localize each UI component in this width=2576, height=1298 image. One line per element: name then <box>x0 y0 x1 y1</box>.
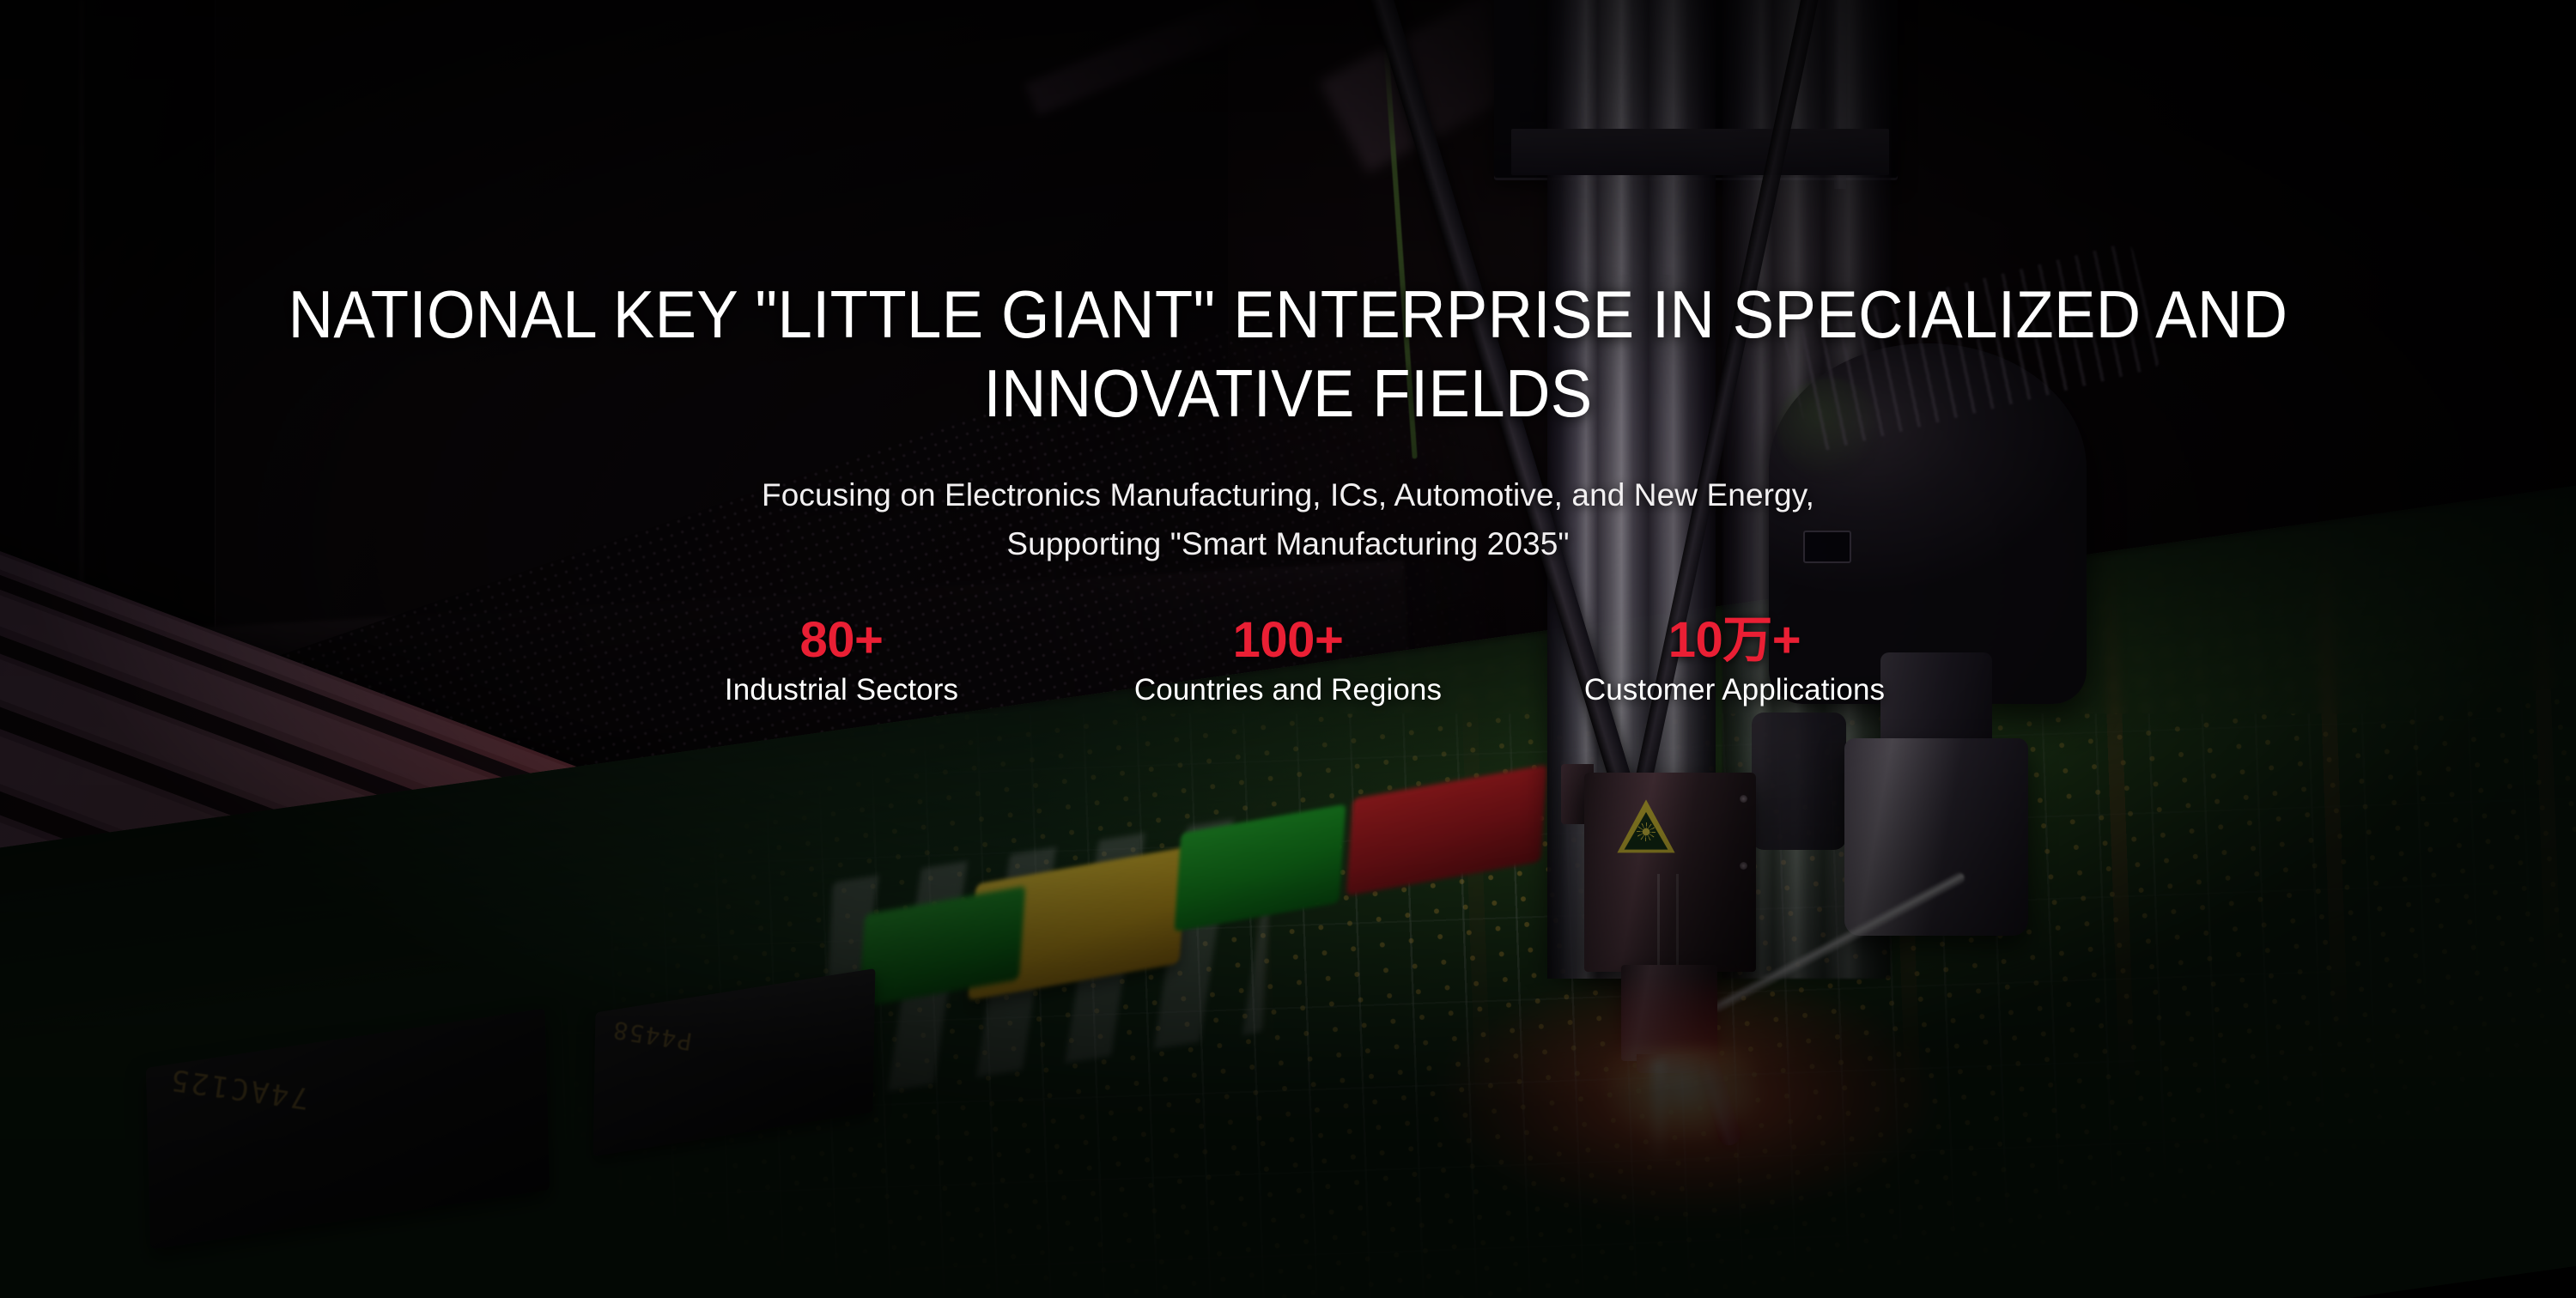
hero-stats: 80+ Industrial Sectors 100+ Countries an… <box>618 614 1958 707</box>
stat-value: 100+ <box>1065 614 1511 666</box>
hero-subtitle-line-1: Focusing on Electronics Manufacturing, I… <box>762 470 1814 519</box>
stat-label: Countries and Regions <box>1065 673 1511 707</box>
hero-content: NATIONAL KEY "LITTLE GIANT" ENTERPRISE I… <box>0 0 2576 1298</box>
hero-banner: 74AC125 P4458 <box>0 0 2576 1298</box>
stat-customer-applications: 10万+ Customer Applications <box>1511 614 1958 707</box>
stat-value: 10万+ <box>1511 614 1958 666</box>
hero-subtitle: Focusing on Electronics Manufacturing, I… <box>762 470 1814 569</box>
stat-label: Industrial Sectors <box>618 673 1065 707</box>
stat-label: Customer Applications <box>1511 673 1958 707</box>
stat-value: 80+ <box>618 614 1065 666</box>
hero-subtitle-line-2: Supporting "Smart Manufacturing 2035" <box>762 519 1814 568</box>
stat-countries-and-regions: 100+ Countries and Regions <box>1065 614 1511 707</box>
page-title: NATIONAL KEY "LITTLE GIANT" ENTERPRISE I… <box>242 275 2335 433</box>
stat-industrial-sectors: 80+ Industrial Sectors <box>618 614 1065 707</box>
